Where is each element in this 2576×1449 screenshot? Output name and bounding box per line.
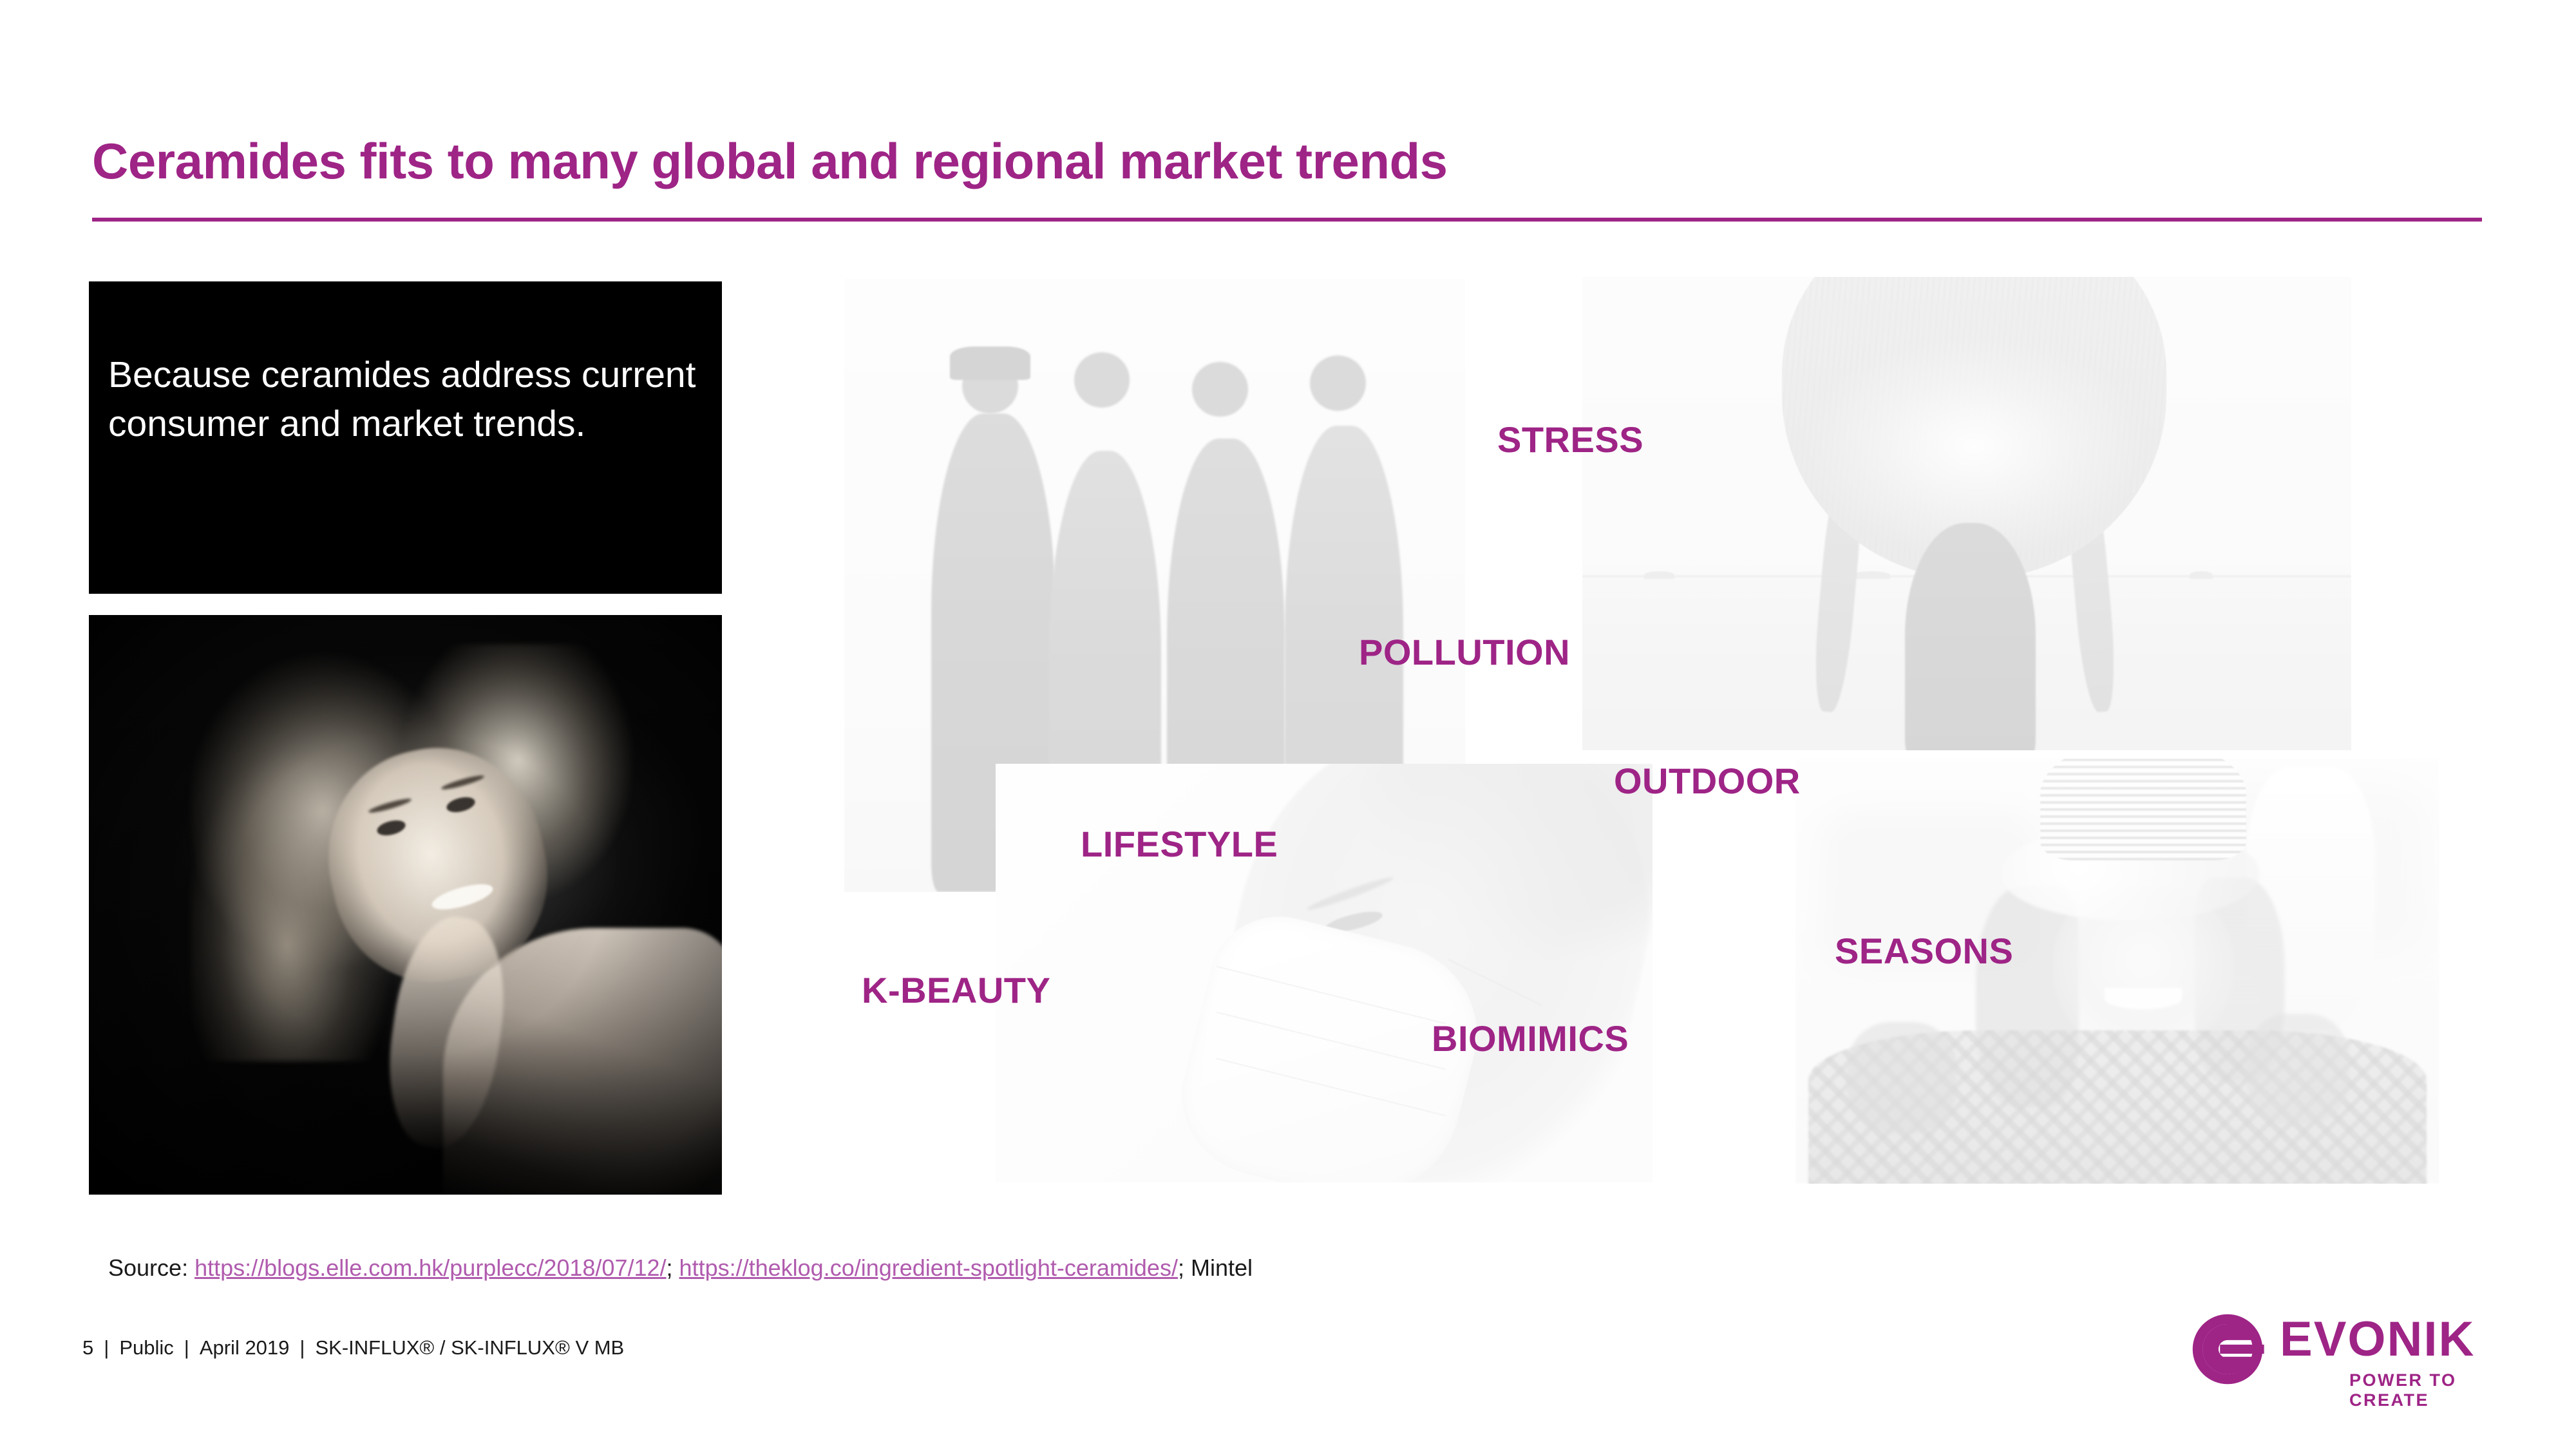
footer-classification: Public [119, 1336, 173, 1359]
footer-date: April 2019 [200, 1336, 290, 1359]
trend-label-lifestyle: LIFESTYLE [1081, 823, 1278, 865]
source-prefix: Source: [108, 1255, 194, 1281]
evonik-wordmark: EVONIK [2280, 1315, 2475, 1364]
evonik-mark-icon [2190, 1311, 2266, 1387]
trend-label-seasons: SEASONS [1835, 930, 2013, 972]
evonik-tagline: POWER TO CREATE [2349, 1370, 2492, 1410]
evonik-logo: EVONIK POWER TO CREATE [2190, 1309, 2492, 1399]
footer-separator-3: | [289, 1336, 315, 1359]
stress-photo-fade-overlay [1582, 277, 2351, 750]
source-link-theklog[interactable]: https://theklog.co/ingredient-spotlight-… [679, 1255, 1178, 1281]
title-underline-rule [92, 218, 2482, 222]
page-title: Ceramides fits to many global and region… [92, 132, 1448, 191]
trend-label-pollution: POLLUTION [1359, 631, 1570, 673]
source-suffix: ; Mintel [1178, 1255, 1253, 1281]
stress-photo [1582, 277, 2351, 750]
source-link-elle[interactable]: https://blogs.elle.com.hk/purplecc/2018/… [194, 1255, 666, 1281]
portrait-artwork [89, 615, 722, 1195]
trend-label-biomimics: BIOMIMICS [1432, 1018, 1629, 1059]
portrait-photo [89, 615, 722, 1195]
source-line: Source: https://blogs.elle.com.hk/purple… [108, 1255, 1253, 1282]
source-separator: ; [667, 1255, 679, 1281]
trend-label-stress: STRESS [1497, 419, 1643, 460]
slide-canvas: Ceramides fits to many global and region… [0, 0, 2576, 1449]
footer-separator-1: | [93, 1336, 119, 1359]
trend-label-k-beauty: K-BEAUTY [862, 969, 1050, 1011]
statement-text: Because ceramides address current consum… [108, 351, 701, 449]
footer-bar: 5|Public|April 2019|SK-INFLUX® / SK-INFL… [82, 1336, 624, 1359]
footer-page-number: 5 [82, 1336, 93, 1359]
trend-label-outdoor: OUTDOOR [1614, 760, 1801, 802]
footer-document-name: SK-INFLUX® / SK-INFLUX® V MB [315, 1336, 624, 1359]
footer-separator-2: | [174, 1336, 200, 1359]
